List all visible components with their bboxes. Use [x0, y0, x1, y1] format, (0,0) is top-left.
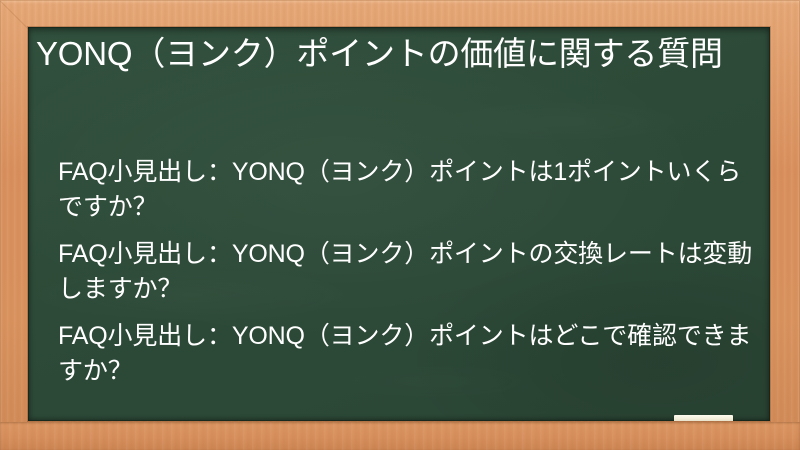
- chalk-tray: [0, 422, 800, 450]
- chalkboard-slide: YONQ（ヨンク）ポイントの価値に関する質問 FAQ小見出し：YONQ（ヨンク）…: [0, 0, 800, 450]
- list-item: FAQ小見出し：YONQ（ヨンク）ポイントはどこで確認できますか？: [58, 319, 754, 389]
- list-item: FAQ小見出し：YONQ（ヨンク）ポイントは1ポイントいくらですか？: [58, 155, 754, 225]
- frame-miter-top-left: [0, 0, 28, 29]
- chalk-stick-icon: [674, 415, 733, 421]
- board-content: YONQ（ヨンク）ポイントの価値に関する質問 FAQ小見出し：YONQ（ヨンク）…: [28, 27, 770, 421]
- faq-list: FAQ小見出し：YONQ（ヨンク）ポイントは1ポイントいくらですか？ FAQ小見…: [58, 155, 754, 389]
- chalkboard: YONQ（ヨンク）ポイントの価値に関する質問 FAQ小見出し：YONQ（ヨンク）…: [28, 27, 770, 421]
- list-item: FAQ小見出し：YONQ（ヨンク）ポイントの交換レートは変動しますか？: [58, 237, 754, 307]
- page-title: YONQ（ヨンク）ポイントの価値に関する質問: [36, 31, 752, 77]
